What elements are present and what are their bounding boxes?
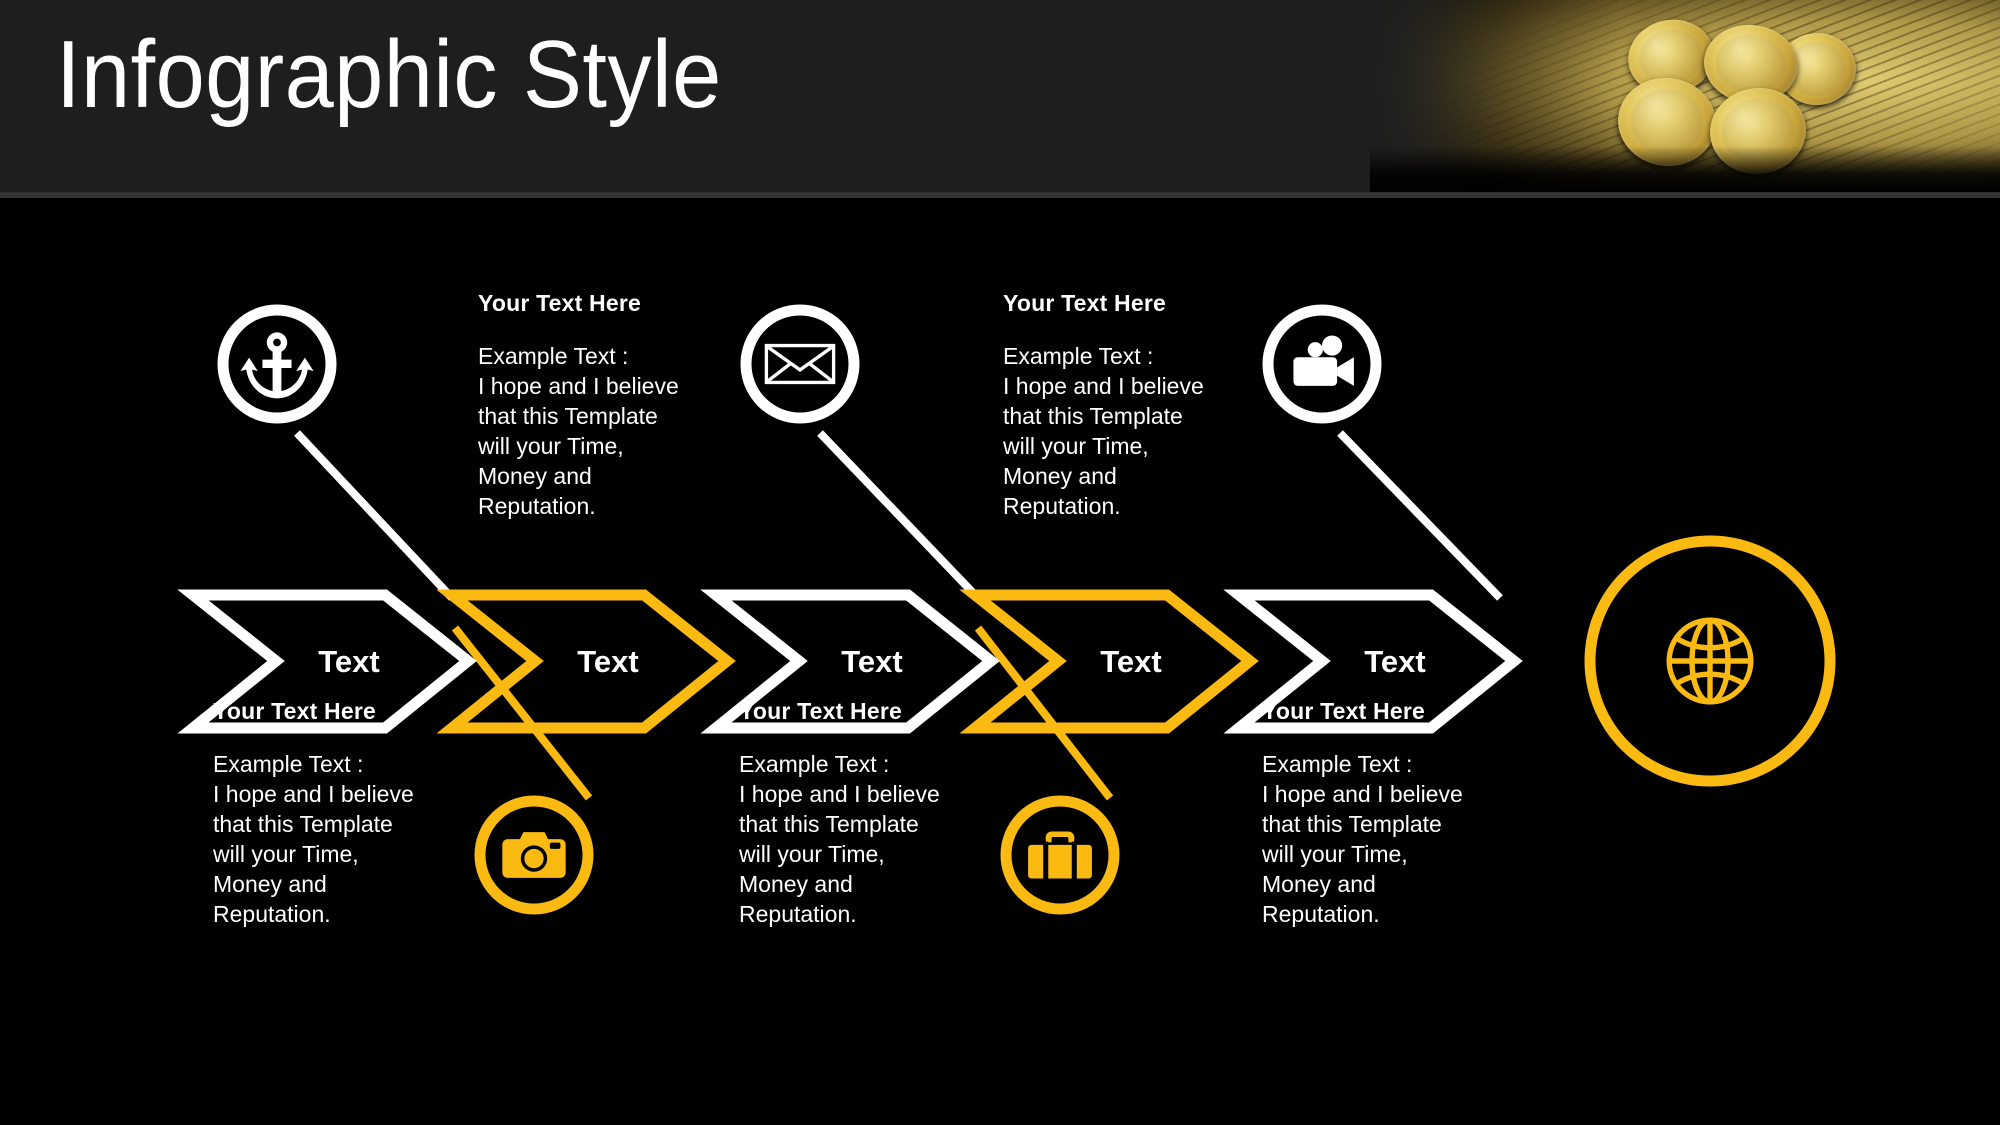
text-block-body: Example Text : I hope and I believe that… xyxy=(1003,341,1204,521)
text-block-body: Example Text : I hope and I believe that… xyxy=(213,749,414,929)
chevron-label-1: Text xyxy=(318,644,379,679)
page-title: Infographic Style xyxy=(56,22,722,128)
text-block-top-2: Your Text Here Example Text : I hope and… xyxy=(1003,290,1204,521)
text-block-body: Example Text : I hope and I believe that… xyxy=(739,749,940,929)
text-block-bottom-2: Your Text Here Example Text : I hope and… xyxy=(739,698,940,929)
slide-header: Infographic Style xyxy=(0,0,2000,192)
icon-badge-globe[interactable] xyxy=(1590,541,1830,781)
video-camera-icon xyxy=(1293,335,1353,385)
icon-badge-camera[interactable] xyxy=(480,801,588,909)
globe-icon xyxy=(1669,620,1751,702)
text-block-bottom-3: Your Text Here Example Text : I hope and… xyxy=(1262,698,1463,929)
text-block-heading: Your Text Here xyxy=(739,698,940,725)
infographic-stage: Text Text Text Text Text xyxy=(0,198,2000,1125)
text-block-heading: Your Text Here xyxy=(1003,290,1204,317)
text-block-heading: Your Text Here xyxy=(213,698,414,725)
icon-badge-anchor[interactable] xyxy=(223,310,331,418)
gold-coins-on-newspaper-photo xyxy=(1370,0,2000,192)
briefcase-icon xyxy=(1028,831,1092,881)
chevron-label-2: Text xyxy=(577,644,638,679)
chevron-label-3: Text xyxy=(841,644,902,679)
connector-line-3 xyxy=(820,433,978,598)
text-block-bottom-1: Your Text Here Example Text : I hope and… xyxy=(213,698,414,929)
anchor-icon xyxy=(240,332,313,398)
icon-badge-envelope[interactable] xyxy=(746,310,854,418)
envelope-icon xyxy=(766,346,833,383)
slide-canvas: Infographic Style xyxy=(0,0,2000,1125)
text-block-body: Example Text : I hope and I believe that… xyxy=(478,341,679,521)
icon-badge-briefcase[interactable] xyxy=(1006,801,1114,909)
process-chevron-diagram: Text Text Text Text Text xyxy=(0,198,2000,1125)
text-block-heading: Your Text Here xyxy=(478,290,679,317)
camera-icon xyxy=(502,832,565,878)
icon-badge-video-camera[interactable] xyxy=(1268,310,1376,418)
text-block-heading: Your Text Here xyxy=(1262,698,1463,725)
chevron-label-5: Text xyxy=(1364,644,1425,679)
chevron-label-4: Text xyxy=(1100,644,1161,679)
text-block-top-1: Your Text Here Example Text : I hope and… xyxy=(478,290,679,521)
text-block-body: Example Text : I hope and I believe that… xyxy=(1262,749,1463,929)
connector-line-5 xyxy=(1340,433,1500,598)
photo-bottom-fade xyxy=(1370,146,2000,192)
connector-line-1 xyxy=(297,433,452,598)
